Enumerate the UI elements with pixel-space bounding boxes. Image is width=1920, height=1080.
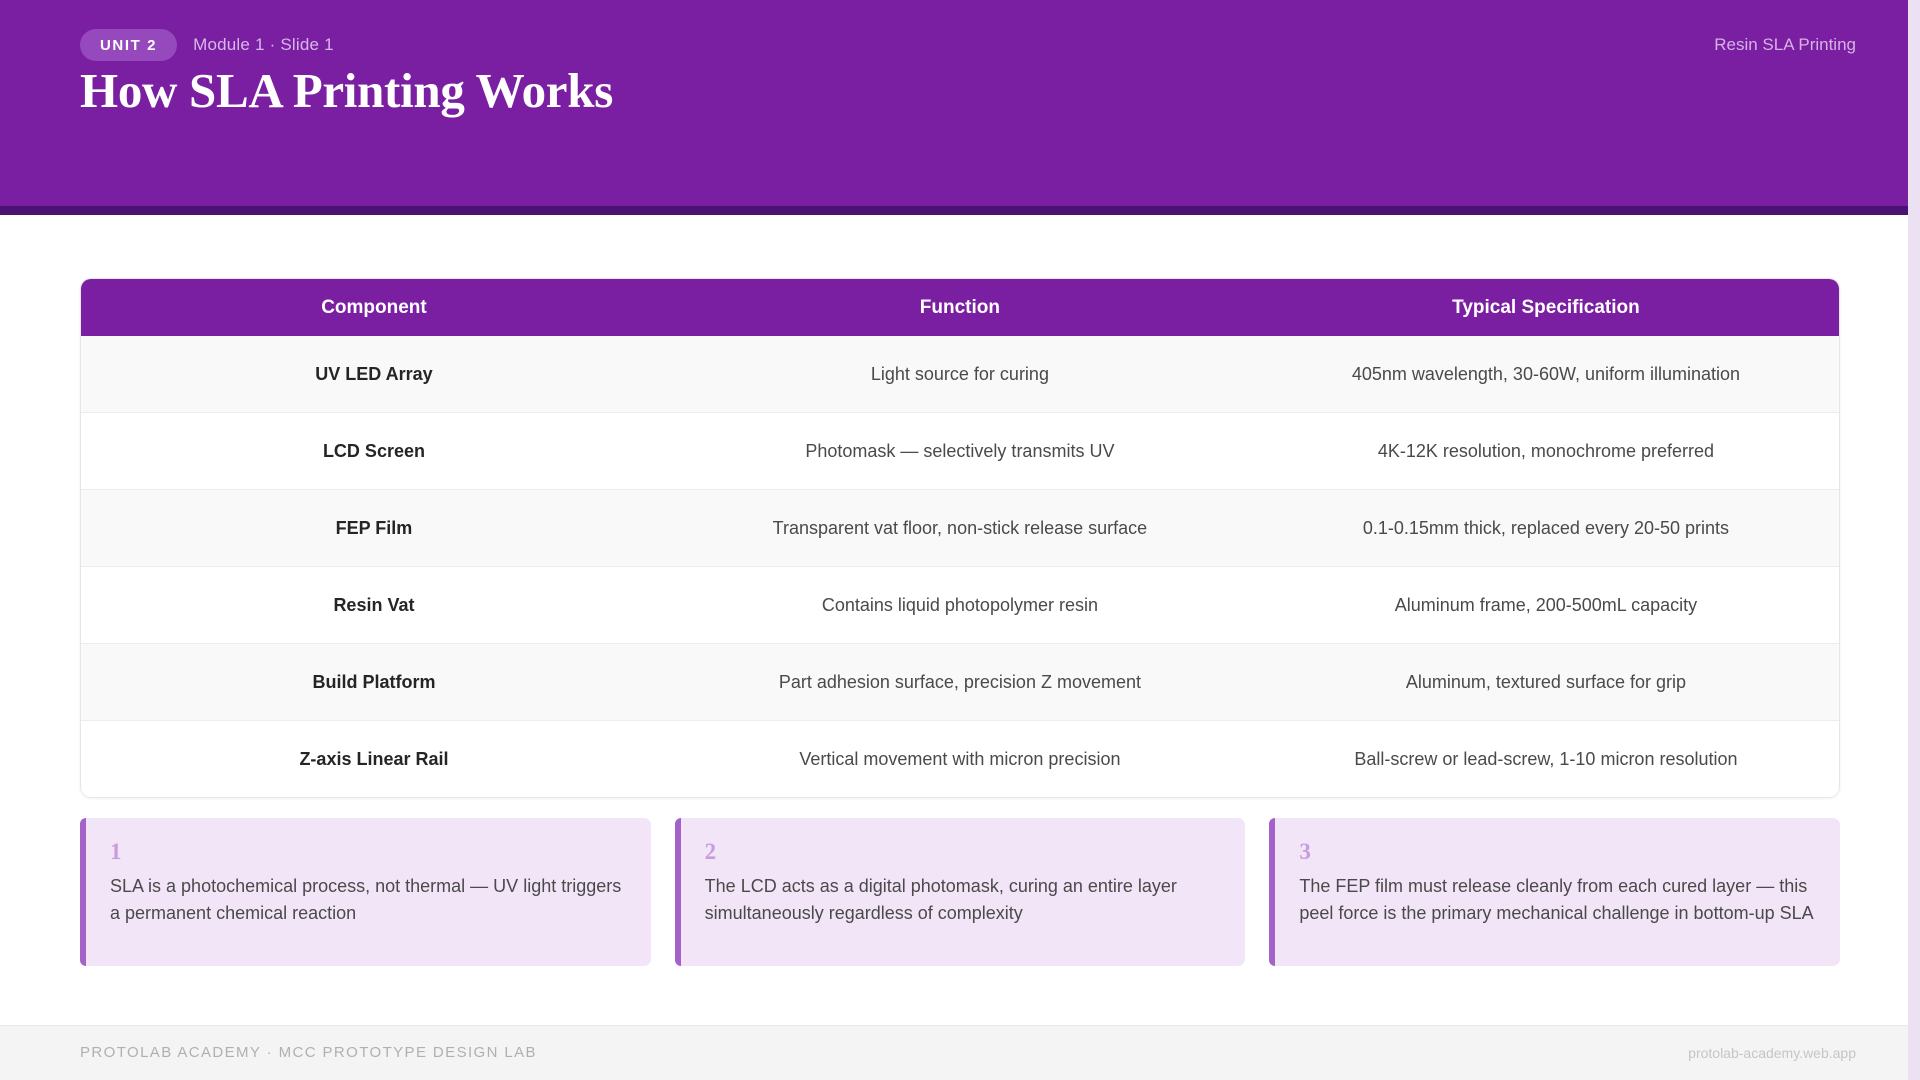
cell-function: Photomask — selectively transmits UV [667, 413, 1253, 490]
footer-url-label: protolab-academy.web.app [1688, 1045, 1856, 1061]
callout-text: SLA is a photochemical process, not ther… [110, 873, 625, 928]
cell-function: Vertical movement with micron precision [667, 721, 1253, 798]
cell-specification: Ball-screw or lead-screw, 1-10 micron re… [1253, 721, 1839, 798]
callout-text: The LCD acts as a digital photomask, cur… [705, 873, 1220, 928]
callout-number: 1 [110, 840, 625, 863]
callout-card: 3 The FEP film must release cleanly from… [1269, 818, 1840, 966]
unit-badge: UNIT 2 [80, 29, 177, 61]
slide-header: UNIT 2 Module 1 · Slide 1 Resin SLA Prin… [0, 0, 1908, 215]
cell-component: UV LED Array [81, 336, 667, 413]
page-scrollbar[interactable] [1908, 0, 1920, 1080]
callout-number: 2 [705, 840, 1220, 863]
cell-specification: Aluminum, textured surface for grip [1253, 644, 1839, 721]
callout-number: 3 [1299, 840, 1814, 863]
column-header-component: Component [81, 279, 667, 336]
cell-function: Transparent vat floor, non-stick release… [667, 490, 1253, 567]
header-accent-stripe [0, 206, 1908, 215]
cell-function: Part adhesion surface, precision Z movem… [667, 644, 1253, 721]
spec-table-body: UV LED Array Light source for curing 405… [81, 336, 1839, 797]
footer-org-label: PROTOLAB ACADEMY · MCC PROTOTYPE DESIGN … [80, 1044, 537, 1061]
spec-table-card: Component Function Typical Specification… [80, 278, 1840, 798]
callout-text: The FEP film must release cleanly from e… [1299, 873, 1814, 928]
callout-card: 2 The LCD acts as a digital photomask, c… [675, 818, 1246, 966]
callout-accent-bar [80, 818, 86, 966]
slide-footer: PROTOLAB ACADEMY · MCC PROTOTYPE DESIGN … [0, 1025, 1908, 1080]
slide-body: Component Function Typical Specification… [0, 215, 1908, 1025]
cell-component: Resin Vat [81, 567, 667, 644]
callout-card: 1 SLA is a photochemical process, not th… [80, 818, 651, 966]
header-meta-row: UNIT 2 Module 1 · Slide 1 [80, 29, 334, 61]
module-slide-label: Module 1 · Slide 1 [193, 35, 334, 55]
header-topic-label: Resin SLA Printing [1714, 35, 1856, 55]
column-header-specification: Typical Specification [1253, 279, 1839, 336]
table-row: Resin Vat Contains liquid photopolymer r… [81, 567, 1839, 644]
cell-component: LCD Screen [81, 413, 667, 490]
callout-accent-bar [675, 818, 681, 966]
cell-specification: 405nm wavelength, 30-60W, uniform illumi… [1253, 336, 1839, 413]
page-scrollbar-thumb[interactable] [1908, 0, 1920, 215]
cell-function: Light source for curing [667, 336, 1253, 413]
table-row: FEP Film Transparent vat floor, non-stic… [81, 490, 1839, 567]
callout-row: 1 SLA is a photochemical process, not th… [80, 818, 1840, 966]
table-row: LCD Screen Photomask — selectively trans… [81, 413, 1839, 490]
cell-specification: 0.1-0.15mm thick, replaced every 20-50 p… [1253, 490, 1839, 567]
table-header-row: Component Function Typical Specification [81, 279, 1839, 336]
cell-function: Contains liquid photopolymer resin [667, 567, 1253, 644]
table-row: Build Platform Part adhesion surface, pr… [81, 644, 1839, 721]
table-row: UV LED Array Light source for curing 405… [81, 336, 1839, 413]
cell-component: Z-axis Linear Rail [81, 721, 667, 798]
column-header-function: Function [667, 279, 1253, 336]
page-title: How SLA Printing Works [80, 62, 613, 119]
cell-component: Build Platform [81, 644, 667, 721]
slide-root: UNIT 2 Module 1 · Slide 1 Resin SLA Prin… [0, 0, 1920, 1080]
cell-component: FEP Film [81, 490, 667, 567]
spec-table-head: Component Function Typical Specification [81, 279, 1839, 336]
cell-specification: 4K-12K resolution, monochrome preferred [1253, 413, 1839, 490]
callout-accent-bar [1269, 818, 1275, 966]
table-row: Z-axis Linear Rail Vertical movement wit… [81, 721, 1839, 798]
spec-table: Component Function Typical Specification… [81, 279, 1839, 797]
cell-specification: Aluminum frame, 200-500mL capacity [1253, 567, 1839, 644]
